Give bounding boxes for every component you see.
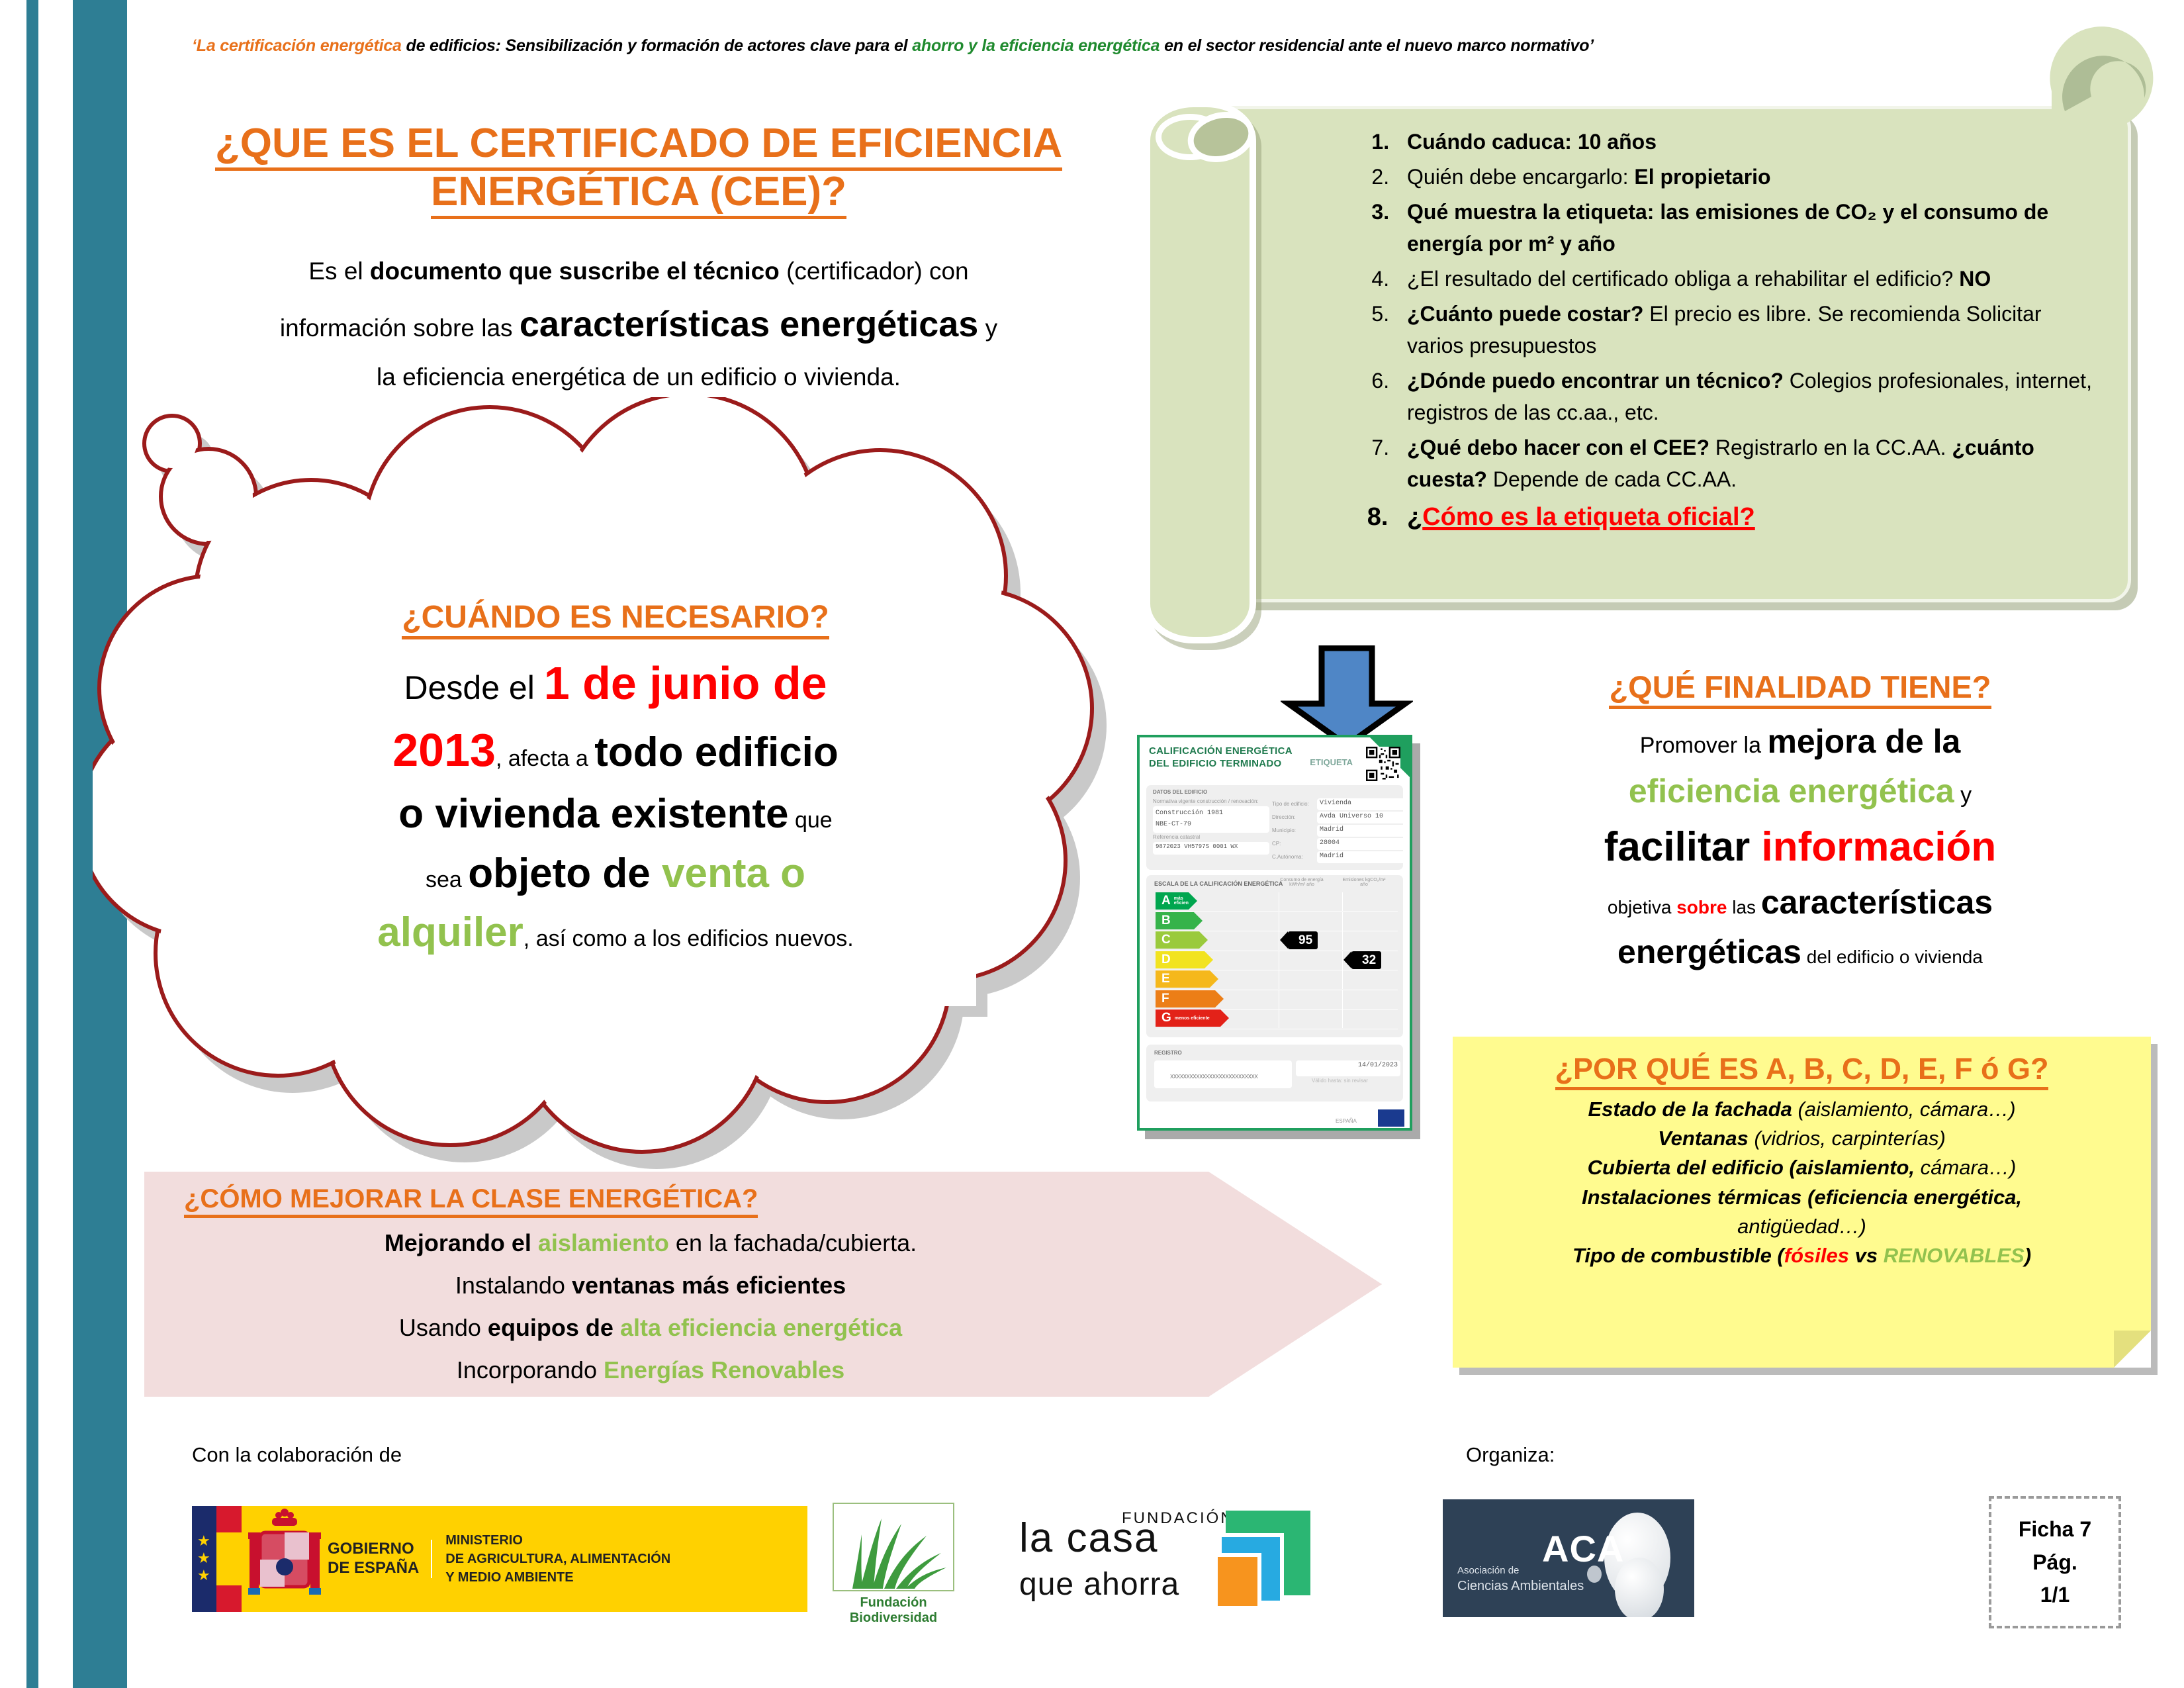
faq-item-text: Registrarlo en la CC.AA. — [1709, 436, 1952, 459]
eu-flag-icon — [1378, 1109, 1404, 1127]
mej-l2a: Instalando — [455, 1272, 572, 1299]
cert-grade-arrow — [1215, 990, 1224, 1008]
energy-certificate-label: CALIFICACIÓN ENERGÉTICA DEL EDIFICIO TER… — [1137, 735, 1412, 1131]
cuando-title: ¿CUÁNDO ES NECESARIO? — [218, 599, 1013, 637]
cee-line-1: Es el documento que suscribe el técnico … — [165, 250, 1112, 293]
cert-v-cp: 28004 — [1317, 838, 1406, 850]
cee-title-line1: ¿QUE ES EL CERTIFICADO DE EFICIENCIA — [215, 120, 1062, 166]
mejorar-line-2: Instalando ventanas más eficientes — [144, 1272, 1157, 1299]
aca-subtitle: Asociación de Ciencias Ambientales — [1457, 1564, 1584, 1595]
finalidad-line-3: facilitar información — [1463, 816, 2138, 878]
cuando-l3a: o vivienda existente — [398, 791, 788, 837]
lacasa-square-icon — [1211, 1511, 1310, 1610]
cert-grade-row: F — [1156, 990, 1398, 1010]
aca-sub2: Ciencias Ambientales — [1457, 1579, 1584, 1593]
porque-list-item: antigüedad…) — [1470, 1213, 2134, 1241]
fundacion-biodiversidad-logo: Fundación Biodiversidad — [827, 1503, 960, 1626]
cert-scale-title: ESCALA DE LA CALIFICACIÓN ENERGÉTICA — [1154, 880, 1283, 887]
cert-grade-letter: F — [1156, 992, 1169, 1006]
fin-l5b: del edificio o vivienda — [1801, 947, 1983, 967]
faq-item: ¿Qué debo hacer con el CEE? Registrarlo … — [1395, 432, 2101, 495]
cert-cell-consumo — [1279, 912, 1343, 931]
cuando-line-3: o vivienda existente que — [218, 784, 1013, 844]
fin-l4d: características — [1761, 884, 1993, 921]
mejorar-line-4: Incorporando Energías Renovables — [144, 1356, 1157, 1384]
faq-item-highlight: 10 años — [1578, 130, 1657, 154]
cee-t2: documento que suscribe el técnico — [370, 258, 780, 285]
fuel-renovables: RENOVABLES — [1884, 1244, 2025, 1267]
biodiversidad-grass-icon — [833, 1503, 954, 1591]
cert-etiqueta-label: ETIQUETA — [1310, 757, 1353, 767]
faq-item-text: ¿El resultado del certificado obliga a r… — [1407, 267, 1959, 291]
cert-k-mun: Municipio: — [1272, 827, 1296, 833]
faq-8-link[interactable]: Cómo es la etiqueta oficial? — [1422, 503, 1755, 531]
faq-item-text: Qué muestra la etiqueta: las — [1407, 200, 1696, 224]
mej-l3a: Usando — [399, 1314, 488, 1341]
cert-title: CALIFICACIÓN ENERGÉTICA DEL EDIFICIO TER… — [1149, 745, 1293, 771]
cert-cell-consumo — [1279, 990, 1343, 1009]
cuando-l2b: , afecta a — [496, 746, 594, 771]
cert-consumo-value: 95 — [1288, 931, 1318, 949]
header-strapline: ‘La certificación energética de edificio… — [192, 36, 1886, 56]
porque-rest: (aislamiento, cámara…) — [1792, 1098, 2016, 1121]
faq-item-tail: Depende de cada CC.AA. — [1487, 467, 1737, 491]
cert-norm-value: Construcción 1981NBE-CT-79 — [1153, 806, 1269, 833]
porque-list-item: Cubierta del edificio (aislamiento, cáma… — [1470, 1154, 2134, 1182]
ministerio-text: MINISTERIO DE AGRICULTURA, ALIMENTACIÓN … — [432, 1531, 670, 1587]
cert-grade-arrow — [1205, 951, 1213, 968]
fin-l3a: facilitar — [1604, 824, 1762, 870]
faq-item-lead: ¿Cuánto puede costar? — [1407, 302, 1643, 326]
cert-espana-label: ESPAÑA — [1336, 1118, 1357, 1124]
faq-item: Qué muestra la etiqueta: las emisiones d… — [1395, 196, 2101, 259]
sticky-fold-corner — [2114, 1331, 2151, 1368]
cert-grade-bar-e: E — [1156, 970, 1210, 988]
strapline-part-4: en el sector residencial ante el nuevo m… — [1160, 36, 1594, 55]
faq-item-highlight: NO — [1959, 267, 1991, 291]
gobierno-text: GOBIERNO DE ESPAÑA — [328, 1540, 432, 1578]
cert-registro-label: REGISTRO — [1154, 1050, 1182, 1056]
cee-line-3: la eficiencia energética de un edificio … — [165, 356, 1112, 399]
section-que-es-cee: ¿QUE ES EL CERTIFICADO DE EFICIENCIA ENE… — [165, 119, 1112, 399]
cee-body: Es el documento que suscribe el técnico … — [165, 250, 1112, 399]
mej-l3b: equipos de — [488, 1314, 620, 1341]
coat-of-arms-icon — [242, 1506, 328, 1612]
ficha-line3: 1/1 — [2040, 1583, 2070, 1607]
cert-cell-consumo — [1279, 892, 1343, 911]
ministerio-l2: DE AGRICULTURA, ALIMENTACIÓN — [445, 1552, 670, 1566]
cert-cell-emisiones — [1342, 970, 1406, 989]
cee-t5: características energéticas — [520, 305, 978, 344]
faq-list: Cuándo caduca: 10 añosQuién debe encarga… — [1343, 126, 2101, 539]
cuando-title-text: ¿CUÁNDO ES NECESARIO? — [402, 600, 829, 635]
cert-col2-header: Emisiones kgCO₂/m² año — [1338, 878, 1390, 887]
cert-cell-consumo — [1279, 1009, 1343, 1028]
fin-l1b: mejora de la — [1767, 723, 1960, 760]
porque-title: ¿POR QUÉ ES A, B, C, D, E, F ó G? — [1453, 1051, 2151, 1086]
cert-grade-bar-g: Gmenos eficiente — [1156, 1009, 1220, 1027]
cert-grade-letter: D — [1156, 953, 1171, 967]
faq-item-lead: ¿Qué debo hacer con el CEE? — [1407, 436, 1709, 459]
cert-cell-consumo — [1279, 970, 1343, 989]
cuando-l5a: alquiler — [377, 910, 523, 955]
cert-grade-bar-b: B — [1156, 912, 1194, 929]
cuando-l2c: todo edificio — [594, 729, 839, 775]
finalidad-line-2: eficiencia energética y — [1463, 767, 2138, 816]
aca-sub1: Asociación de — [1457, 1565, 1519, 1576]
qr-code-icon — [1366, 747, 1400, 781]
cee-t1: Es el — [308, 258, 370, 285]
cert-cell-consumo — [1279, 951, 1343, 970]
cert-ref-label: Referencia catastral — [1153, 834, 1200, 840]
fin-l1a: Promover la — [1640, 733, 1768, 758]
ministerio-l3: Y MEDIO AMBIENTE — [445, 1570, 573, 1585]
cert-grade-row: Amás eficiente — [1156, 892, 1398, 912]
fuel-lead: Tipo de combustible ( — [1572, 1244, 1784, 1267]
fin-l3b: información — [1761, 824, 1996, 870]
section-que-finalidad-tiene: ¿QUÉ FINALIDAD TIENE? Promover la mejora… — [1463, 669, 2138, 977]
cuando-line-5: alquiler, así como a los edificios nuevo… — [218, 903, 1013, 962]
cert-cell-emisiones — [1342, 990, 1406, 1009]
strapline-part-1: ‘La certificación energética — [192, 36, 402, 55]
finalidad-body: Promover la mejora de la eficiencia ener… — [1463, 717, 2138, 977]
cee-t6: y — [978, 314, 997, 342]
cert-grade-row: Gmenos eficiente — [1156, 1009, 1398, 1029]
cee-line-2: información sobre las características en… — [165, 293, 1112, 356]
organiza-label: Organiza: — [1466, 1443, 1555, 1467]
porque-rest: (vidrios, carpinterías) — [1749, 1127, 1946, 1150]
mejorar-line-1: Mejorando el aislamiento en la fachada/c… — [144, 1229, 1157, 1257]
cuando-l1a: Desde el — [404, 669, 543, 706]
faq-8-prefix: ¿ — [1407, 503, 1422, 531]
porque-list-item: Estado de la fachada (aislamiento, cámar… — [1470, 1096, 2134, 1123]
porque-rest: cámara…) — [1915, 1156, 2016, 1179]
cuando-line-1: Desde el 1 de junio de — [218, 650, 1013, 718]
cert-grade-arrow — [1210, 970, 1218, 988]
porque-list: Estado de la fachada (aislamiento, cámar… — [1453, 1096, 2151, 1270]
cuando-line-4: sea objeto de venta o — [218, 844, 1013, 904]
cert-grade-arrow — [1220, 1009, 1229, 1027]
faq-scroll: Cuándo caduca: 10 añosQuién debe encarga… — [1125, 106, 2131, 629]
mej-l1c: en la fachada/cubierta. — [669, 1229, 917, 1256]
mejorar-line-3: Usando equipos de alta eficiencia energé… — [144, 1314, 1157, 1342]
porque-rest: antigüedad…) — [1737, 1215, 1866, 1238]
section-como-mejorar: ¿CÓMO MEJORAR LA CLASE ENERGÉTICA? Mejor… — [144, 1172, 1382, 1397]
porque-bold: Instalaciones térmicas (eficiencia energ… — [1582, 1186, 2022, 1209]
mej-l3c: alta eficiencia energética — [620, 1314, 902, 1341]
mej-l4b: Energías Renovables — [604, 1356, 844, 1383]
cert-cell-emisiones — [1342, 912, 1406, 931]
cert-grade-bar-d: D — [1156, 951, 1205, 968]
gobierno-de-espana-logo: ★★★ GOBIERNO DE ESPAÑA MINISTERIO DE AGR… — [192, 1506, 807, 1612]
cuando-l1b: 1 de junio de — [544, 657, 827, 709]
cert-ref-value: 9872023 VH5797S 0001 WX — [1153, 842, 1269, 855]
ficha-line2: Pág. — [2032, 1550, 2077, 1574]
fin-l4a: objetiva — [1608, 897, 1676, 917]
mej-l1a: Mejorando el — [385, 1229, 538, 1256]
cert-v-mun: Madrid — [1317, 825, 1406, 837]
faq-item-text: Cuándo caduca: — [1407, 130, 1578, 154]
cert-grade-bar-f: F — [1156, 990, 1215, 1008]
cert-grade-letter: B — [1156, 914, 1171, 928]
finalidad-line-4: objetiva sobre las características — [1463, 878, 2138, 927]
lacasa-line1: la casa — [1019, 1515, 1158, 1562]
cert-emisiones-value: 32 — [1351, 951, 1381, 969]
faq-item-lead: ¿Dónde puedo encontrar un técnico? — [1407, 369, 1784, 393]
collaboration-label: Con la colaboración de — [192, 1443, 402, 1467]
cert-registro-code: XXXXXXXXXXXXXXXXXXXXXXXXXXX — [1170, 1074, 1257, 1080]
finalidad-line-1: Promover la mejora de la — [1463, 717, 2138, 767]
fuel-fosiles: fósiles — [1784, 1244, 1849, 1267]
lacasa-line2: que ahorra — [1019, 1566, 1179, 1603]
mej-l2b: ventanas más eficientes — [572, 1272, 846, 1299]
cert-grade-row: D32 — [1156, 951, 1398, 971]
mej-l1b: aislamiento — [538, 1229, 669, 1256]
biodiversidad-caption: Fundación Biodiversidad — [827, 1595, 960, 1626]
mejorar-title-text: ¿CÓMO MEJORAR LA CLASE ENERGÉTICA? — [184, 1184, 758, 1213]
spain-flag-stripe — [216, 1506, 242, 1612]
left-accent-bar-outer — [26, 0, 38, 1688]
cert-grade-bar-c: C — [1156, 931, 1199, 949]
cee-t4: información sobre las — [280, 314, 520, 342]
gobierno-l1: GOBIERNO — [328, 1540, 414, 1558]
cert-grade-letter: G — [1156, 1011, 1171, 1025]
porque-bold: Estado de la fachada — [1588, 1098, 1792, 1121]
cee-t3: (certificador) con — [780, 258, 969, 285]
cert-title-l1: CALIFICACIÓN ENERGÉTICA — [1149, 745, 1293, 757]
porque-bold: Ventanas — [1658, 1127, 1749, 1150]
porque-list-item-fuel: Tipo de combustible (fósiles vs RENOVABL… — [1470, 1242, 2134, 1270]
scroll-top-curl-decoration — [2045, 12, 2171, 128]
mej-l4a: Incorporando — [457, 1356, 604, 1383]
cert-k-dir: Dirección: — [1272, 814, 1296, 820]
faq-item: ¿El resultado del certificado obliga a r… — [1395, 263, 2101, 295]
cert-registro-box: REGISTRO XXXXXXXXXXXXXXXXXXXXXXXXXXX 14/… — [1146, 1045, 1403, 1102]
cee-t7: la eficiencia energética de un edificio … — [377, 363, 901, 391]
cert-panel-label: DATOS DEL EDIFICIO — [1153, 789, 1207, 795]
strapline-part-3: ahorro y la eficiencia energética — [912, 36, 1160, 55]
faq-item: Cuándo caduca: 10 años — [1395, 126, 2101, 158]
cert-cell-emisiones — [1342, 931, 1406, 950]
blue-down-arrow-icon — [1281, 645, 1413, 748]
faq-item-8[interactable]: ¿Cómo es la etiqueta oficial? — [1395, 498, 2101, 536]
cert-grade-arrow — [1189, 892, 1197, 910]
cuando-l4c: venta o — [662, 851, 805, 896]
cee-title: ¿QUE ES EL CERTIFICADO DE EFICIENCIA ENE… — [165, 119, 1112, 216]
fin-l2b: y — [1954, 782, 1972, 808]
faq-item: ¿Dónde puedo encontrar un técnico? Coleg… — [1395, 365, 2101, 428]
cuando-l5b: , así como a los edificios nuevos. — [523, 926, 854, 951]
cuando-l3b: que — [789, 808, 833, 833]
cert-grade-letter: C — [1156, 933, 1171, 947]
cert-title-l2: DEL EDIFICIO TERMINADO — [1149, 758, 1282, 769]
cert-registro-date: 14/01/2023 — [1296, 1060, 1400, 1076]
cert-cell-emisiones — [1342, 1009, 1406, 1028]
cert-cell-emisiones — [1342, 892, 1406, 911]
cert-v-tipo: Vivienda — [1317, 798, 1406, 810]
cert-col1-header: Consumo de energía kWh/m² año — [1276, 878, 1328, 887]
cert-norm-v1: Construcción 1981 — [1156, 810, 1223, 817]
finalidad-title-text: ¿QUÉ FINALIDAD TIENE? — [1609, 669, 1991, 704]
eu-stars-icon: ★★★ — [197, 1532, 210, 1584]
ministerio-l1: MINISTERIO — [445, 1533, 523, 1548]
porque-bold: Cubierta del edificio (aislamiento, — [1588, 1156, 1915, 1179]
cuando-line-2: 2013, afecta a todo edificio — [218, 717, 1013, 784]
faq-item-text: Quién debe encargarlo: — [1407, 165, 1634, 189]
cert-k-tipo: Tipo de edificio: — [1272, 801, 1309, 807]
cert-grade-letter: E — [1156, 972, 1170, 986]
cert-grade-row: B — [1156, 912, 1398, 932]
faq-item: ¿Cuánto puede costar? El precio es libre… — [1395, 298, 2101, 361]
cert-v-ca: Madrid — [1317, 851, 1406, 863]
cert-scale-box: ESCALA DE LA CALIFICACIÓN ENERGÉTICA Con… — [1146, 875, 1403, 1037]
cert-grade-letter: A — [1156, 894, 1171, 908]
cert-grade-arrow — [1199, 931, 1208, 949]
cert-k-ca: C.Autónoma: — [1272, 854, 1303, 860]
cert-norm-label: Normativa vigente construcción / renovac… — [1153, 798, 1265, 804]
cert-registro-date-label: Válido hasta: sin revisar — [1312, 1078, 1368, 1084]
cee-title-line2: ENERGÉTICA (CEE)? — [431, 169, 846, 214]
cloud-text: ¿CUÁNDO ES NECESARIO? Desde el 1 de juni… — [218, 599, 1013, 962]
aca-logo: ACA Asociación de Ciencias Ambientales — [1443, 1499, 1694, 1617]
ficha-page-badge: Ficha 7 Pág. 1/1 — [1989, 1496, 2121, 1628]
finalidad-title: ¿QUÉ FINALIDAD TIENE? — [1463, 669, 2138, 705]
cert-grade-bar-a: Amás eficiente — [1156, 892, 1189, 910]
strapline-part-2: de edificios: Sensibilización y formació… — [402, 36, 912, 55]
mejorar-content: ¿CÓMO MEJORAR LA CLASE ENERGÉTICA? Mejor… — [144, 1184, 1157, 1384]
finalidad-line-5: energéticas del edificio o vivienda — [1463, 927, 2138, 977]
cert-grade-note: menos eficiente — [1171, 1016, 1210, 1021]
sticky-note-por-que-letras: ¿POR QUÉ ES A, B, C, D, E, F ó G? Estado… — [1453, 1037, 2151, 1368]
cert-k-cp: CP: — [1272, 841, 1281, 847]
porque-title-text: ¿POR QUÉ ES A, B, C, D, E, F ó G? — [1555, 1052, 2049, 1086]
porque-list-item: Instalaciones térmicas (eficiencia energ… — [1470, 1184, 2134, 1211]
cert-v-dir: Avda Universo 10 — [1317, 812, 1406, 823]
fin-l4b: sobre — [1676, 897, 1727, 917]
cert-grade-row: C95 — [1156, 931, 1398, 951]
fin-l2a: eficiencia energética — [1629, 773, 1954, 810]
cert-grade-row: E — [1156, 970, 1398, 990]
gobierno-l2: DE ESPAÑA — [328, 1559, 419, 1577]
faq-item: Quién debe encargarlo: El propietario — [1395, 161, 2101, 193]
cloud-cuando-es-necesario: ¿CUÁNDO ES NECESARIO? Desde el 1 de juni… — [93, 397, 1165, 1185]
cert-norm-v2: NBE-CT-79 — [1156, 821, 1191, 828]
fuel-close: ) — [2025, 1244, 2031, 1267]
fuel-vs: vs — [1849, 1244, 1884, 1267]
cuando-l4a: sea — [426, 867, 468, 892]
cert-grade-rows: Amás eficienteBC95D32EFGmenos eficiente — [1156, 892, 1398, 1032]
porque-list-item: Ventanas (vidrios, carpinterías) — [1470, 1125, 2134, 1152]
fin-l5a: energéticas — [1617, 933, 1801, 970]
ficha-line1: Ficha 7 — [2019, 1517, 2091, 1541]
cert-grade-arrow — [1194, 912, 1203, 929]
cuando-l2a: 2013 — [392, 724, 496, 776]
mejorar-title: ¿CÓMO MEJORAR LA CLASE ENERGÉTICA? — [144, 1184, 1157, 1215]
fin-l4c: las — [1727, 897, 1760, 917]
cuando-l4b: objeto de — [468, 851, 662, 896]
faq-item-highlight: El propietario — [1634, 165, 1770, 189]
